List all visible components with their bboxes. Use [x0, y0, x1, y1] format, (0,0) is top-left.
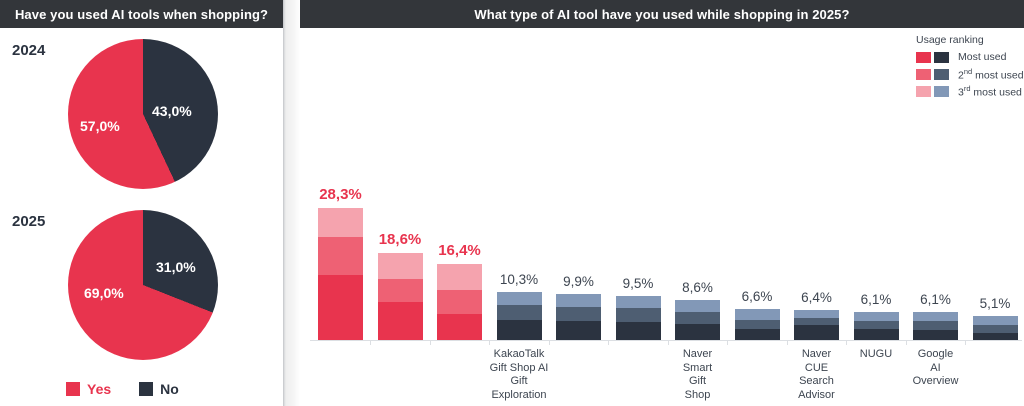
- bar-stack: [854, 312, 899, 340]
- bar-value-label: 16,4%: [437, 242, 482, 259]
- bar-segment: [497, 292, 542, 305]
- bar-value-label: 28,3%: [318, 186, 363, 203]
- bar-column[interactable]: 28,3%: [318, 208, 363, 340]
- usage-ranking-legend-title: Usage ranking: [916, 34, 1024, 46]
- bar-column[interactable]: 6,6%: [735, 309, 780, 340]
- bar-segment: [437, 290, 482, 314]
- usage-ranking-legend-label: Most used: [958, 51, 1006, 63]
- bar-value-label: 9,9%: [556, 274, 601, 289]
- legend-swatch-icon-red: [916, 52, 931, 63]
- bar-value-label: 9,5%: [616, 276, 661, 291]
- bar-segment: [973, 316, 1018, 325]
- bar-segment: [378, 302, 423, 340]
- legend-swatch-icon-red: [916, 86, 931, 97]
- bar-stack: [913, 312, 958, 340]
- bar-segment: [318, 237, 363, 274]
- bar-segment: [794, 318, 839, 325]
- bar-column[interactable]: 6,1%NUGU: [854, 312, 899, 340]
- bar-segment: [556, 294, 601, 307]
- pie-slice-label-yes-2024: 57,0%: [80, 118, 120, 134]
- bar-value-label: 8,6%: [675, 280, 720, 295]
- bar-category-label: KakaoTalkGift Shop AIGiftExploration: [483, 348, 556, 402]
- bar-segment: [794, 325, 839, 340]
- pie-legend-label-no: No: [160, 381, 179, 397]
- bar-column[interactable]: 6,1%GoogleAIOverview: [913, 312, 958, 340]
- bar-segment: [913, 312, 958, 322]
- bar-stack: [794, 310, 839, 340]
- axis-tick: [430, 340, 431, 345]
- axis-tick: [489, 340, 490, 345]
- usage-ranking-legend-rows: Most used2nd most used3rd most used: [916, 50, 1024, 98]
- legend-swatch-icon-no: [139, 382, 153, 396]
- legend-swatch-icon-red: [916, 69, 931, 80]
- bar-segment: [735, 320, 780, 328]
- axis-tick: [370, 340, 371, 345]
- bar-column[interactable]: 6,4%NaverCUESearchAdvisor: [794, 310, 839, 340]
- bar-segment: [616, 308, 661, 322]
- bar-segment: [854, 312, 899, 321]
- bar-value-label: 6,1%: [913, 292, 958, 307]
- bar-value-label: 6,1%: [854, 292, 899, 307]
- left-panel-title: Have you used AI tools when shopping?: [15, 7, 268, 22]
- bar-segment: [556, 321, 601, 340]
- axis-tick: [906, 340, 907, 345]
- bar-segment: [794, 310, 839, 317]
- pie-slice-label-no-2024: 43,0%: [152, 103, 192, 119]
- panel-divider: [283, 0, 300, 406]
- bar-segment: [616, 322, 661, 340]
- bar-segment: [735, 329, 780, 340]
- bar-column[interactable]: 9,5%: [616, 296, 661, 340]
- bar-value-label: 6,4%: [794, 290, 839, 305]
- pie-legend: Yes No: [66, 381, 179, 397]
- bar-value-label: 10,3%: [497, 272, 542, 287]
- usage-ranking-legend: Usage ranking Most used2nd most used3rd …: [916, 34, 1024, 101]
- bar-segment: [675, 300, 720, 312]
- axis-tick: [846, 340, 847, 345]
- usage-ranking-legend-label: 3rd most used: [958, 84, 1022, 99]
- bar-segment: [437, 314, 482, 340]
- left-panel-header: Have you used AI tools when shopping?: [0, 0, 283, 28]
- left-panel: 2024 2025 57,0% 43,0% 69,0% 31,0% Yes No: [0, 0, 283, 406]
- bar-stack: [616, 296, 661, 340]
- bar-segment: [973, 333, 1018, 340]
- bar-value-label: 6,6%: [735, 289, 780, 304]
- bar-segment: [854, 321, 899, 329]
- bar-segment: [735, 309, 780, 320]
- right-panel-header: What type of AI tool have you used while…: [300, 0, 1024, 28]
- bar-stack: [318, 208, 363, 340]
- right-panel-title: What type of AI tool have you used while…: [474, 7, 849, 22]
- bar-segment: [378, 253, 423, 279]
- bar-stack: [735, 309, 780, 340]
- usage-ranking-legend-label: 2nd most used: [958, 67, 1024, 82]
- bar-segment: [675, 312, 720, 325]
- axis-tick: [549, 340, 550, 345]
- pie-slice-label-yes-2025: 69,0%: [84, 285, 124, 301]
- pie-year-label-2024: 2024: [12, 42, 45, 59]
- legend-swatch-icon-navy: [934, 52, 949, 63]
- bar-stack: [675, 300, 720, 340]
- bar-stack: [973, 316, 1018, 340]
- bar-segment: [913, 330, 958, 340]
- bar-segment: [854, 329, 899, 340]
- infographic-root: ASIANCE ASIANCE ASIANCE 2024 2025 57,0% …: [0, 0, 1024, 406]
- usage-ranking-legend-item[interactable]: Most used: [916, 50, 1024, 64]
- pie-legend-item-no[interactable]: No: [139, 381, 179, 397]
- axis-tick: [668, 340, 669, 345]
- bar-column[interactable]: 10,3%KakaoTalkGift Shop AIGiftExploratio…: [497, 292, 542, 340]
- bar-category-label: GoogleAIOverview: [899, 348, 972, 389]
- bar-category-label: NaverSmartGiftShop: [661, 348, 734, 402]
- pie-legend-label-yes: Yes: [87, 381, 111, 397]
- bar-column[interactable]: 9,9%: [556, 294, 601, 340]
- bar-column[interactable]: 5,1%: [973, 316, 1018, 340]
- legend-swatch-icon-yes: [66, 382, 80, 396]
- bar-segment: [318, 275, 363, 340]
- bar-segment: [437, 264, 482, 291]
- bar-stack: [556, 294, 601, 340]
- bar-stack: [497, 292, 542, 340]
- bar-segment: [675, 324, 720, 340]
- bar-stack: [437, 264, 482, 340]
- axis-tick: [608, 340, 609, 345]
- usage-ranking-legend-item[interactable]: 3rd most used: [916, 84, 1024, 98]
- bar-segment: [556, 307, 601, 321]
- axis-tick: [727, 340, 728, 345]
- bar-segment: [318, 208, 363, 237]
- pie-chart-2024: [68, 39, 218, 189]
- x-axis-line: [310, 340, 1022, 341]
- pie-legend-item-yes[interactable]: Yes: [66, 381, 111, 397]
- bar-segment: [616, 296, 661, 309]
- usage-ranking-legend-item[interactable]: 2nd most used: [916, 67, 1024, 81]
- bar-value-label: 5,1%: [973, 296, 1018, 311]
- bar-stack: [378, 253, 423, 340]
- axis-tick: [787, 340, 788, 345]
- pie-year-label-2025: 2025: [12, 213, 45, 230]
- bar-column[interactable]: 18,6%: [378, 253, 423, 340]
- pie-slice-label-no-2025: 31,0%: [156, 259, 196, 275]
- legend-swatch-icon-navy: [934, 86, 949, 97]
- bar-value-label: 18,6%: [378, 231, 423, 248]
- bar-column[interactable]: 16,4%: [437, 264, 482, 340]
- legend-swatch-icon-navy: [934, 69, 949, 80]
- bar-segment: [378, 279, 423, 302]
- bar-segment: [973, 325, 1018, 332]
- bar-column[interactable]: 8,6%NaverSmartGiftShop: [675, 300, 720, 340]
- bar-segment: [497, 305, 542, 321]
- axis-tick: [965, 340, 966, 345]
- bar-segment: [913, 321, 958, 329]
- bar-segment: [497, 320, 542, 340]
